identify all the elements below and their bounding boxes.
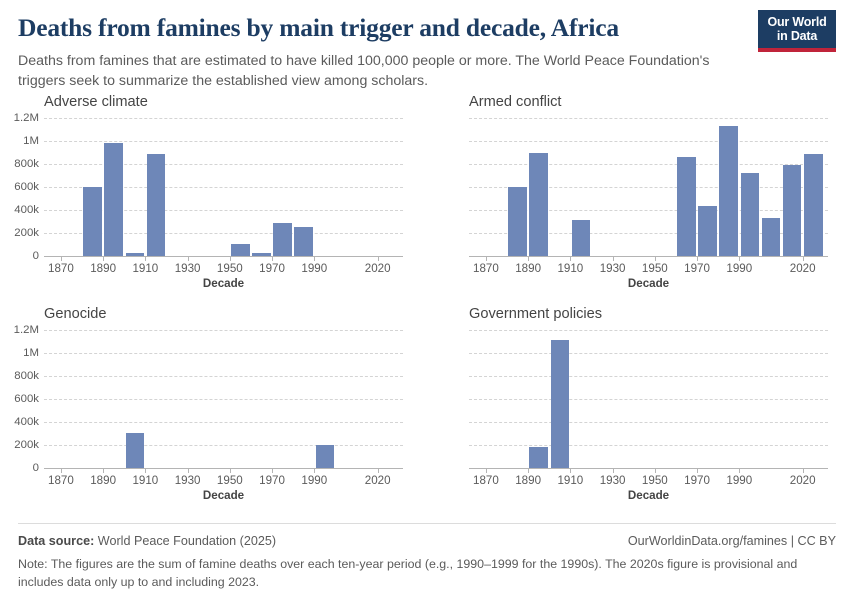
x-axis-tick [803,468,804,473]
x-axis-tick-label: 2020 [790,262,816,275]
bar[interactable] [83,187,102,256]
x-axis-tick [486,256,487,261]
owid-logo[interactable]: Our World in Data [758,10,836,52]
y-axis-tick-label: 1.2M [14,112,39,124]
bar[interactable] [551,340,570,468]
x-axis-tick [570,256,571,261]
x-axis-tick-label: 1910 [132,262,158,275]
x-axis-tick [528,256,529,261]
x-axis-tick-label: 1910 [132,474,158,487]
x-axis: 18701890191019301950197019902020Decade [44,468,403,502]
plot-area [469,118,828,256]
x-axis-tick-label: 1870 [48,474,74,487]
x-axis-tick [739,468,740,473]
x-axis-tick [145,256,146,261]
x-axis-title: Decade [203,489,244,502]
x-axis-tick [697,256,698,261]
x-axis-tick [230,468,231,473]
plot-canvas [469,330,828,468]
x-axis-tick [188,468,189,473]
footer-divider [18,523,836,524]
y-axis-tick-label: 600k [14,393,39,405]
y-axis-tick-label: 400k [14,204,39,216]
logo-line-1: Our World [767,15,826,29]
bar-series [469,118,828,256]
x-axis-title: Decade [628,489,669,502]
bar[interactable] [529,447,548,468]
x-axis-tick [378,256,379,261]
x-axis-tick [314,468,315,473]
plot-area [469,330,828,468]
bar[interactable] [804,154,823,255]
y-axis-tick-label: 0 [33,250,39,262]
y-axis-tick-label: 400k [14,416,39,428]
x-axis-tick [314,256,315,261]
x-axis-tick [103,256,104,261]
plot-canvas: 0200k400k600k800k1M1.2M [44,330,403,468]
y-axis-tick-label: 1M [23,347,39,359]
y-axis-tick-label: 600k [14,181,39,193]
x-axis-tick [528,468,529,473]
x-axis-tick-label: 1970 [259,262,285,275]
x-axis-tick-label: 1950 [217,474,243,487]
x-axis-tick [188,256,189,261]
x-axis-tick [655,468,656,473]
x-axis-tick-label: 1870 [473,262,499,275]
x-axis: 18701890191019301950197019902020Decade [469,468,828,502]
bar[interactable] [719,126,738,255]
bar[interactable] [741,173,760,255]
x-axis-tick-label: 1930 [175,262,201,275]
chart-panel: Adverse climate0200k400k600k800k1M1.2M18… [0,94,425,306]
x-axis-tick-label: 1950 [217,262,243,275]
bar[interactable] [126,433,145,468]
x-axis-tick [61,468,62,473]
bar[interactable] [273,223,292,256]
bar[interactable] [698,206,717,255]
x-axis-tick-label: 1990 [726,474,752,487]
y-axis-tick-label: 1M [23,135,39,147]
chart-panel: Armed conflict18701890191019301950197019… [425,94,850,306]
y-axis-tick-label: 0 [33,462,39,474]
chart-subtitle: Deaths from famines that are estimated t… [18,51,753,91]
page-title: Deaths from famines by main trigger and … [18,14,832,43]
plot-canvas [469,118,828,256]
panel-title: Government policies [469,306,834,324]
panel-title: Genocide [44,306,409,324]
bar[interactable] [783,165,802,256]
x-axis-tick-label: 1890 [90,474,116,487]
logo-line-2: in Data [777,29,817,43]
chart-footer: Data source: World Peace Foundation (202… [18,523,836,592]
bar[interactable] [677,157,696,256]
bar[interactable] [572,220,591,256]
x-axis-tick-label: 1970 [259,474,285,487]
chart-panel: Genocide0200k400k600k800k1M1.2M187018901… [0,306,425,518]
y-axis-tick-label: 1.2M [14,324,39,336]
x-axis-tick [570,468,571,473]
panel-title: Armed conflict [469,94,834,112]
x-axis-tick [230,256,231,261]
x-axis-tick-label: 1870 [473,474,499,487]
x-axis-title: Decade [203,277,244,290]
bar[interactable] [147,154,166,255]
chart-panel-grid: Adverse climate0200k400k600k800k1M1.2M18… [0,94,850,519]
x-axis-tick-label: 2020 [365,262,391,275]
x-axis-tick-label: 1970 [684,262,710,275]
x-axis-tick-label: 1970 [684,474,710,487]
bar[interactable] [762,218,781,256]
y-axis-tick-label: 200k [14,439,39,451]
logo-accent-bar [758,48,836,52]
chart-panel: Government policies187018901910193019501… [425,306,850,518]
note-value: The figures are the sum of famine deaths… [18,557,797,589]
x-axis-tick [803,256,804,261]
x-axis-tick-label: 1910 [557,474,583,487]
data-source-label: Data source: [18,534,94,548]
x-axis-tick-label: 1930 [600,262,626,275]
x-axis-tick-label: 1890 [515,262,541,275]
x-axis-tick-label: 1890 [515,474,541,487]
x-axis: 18701890191019301950197019902020Decade [44,256,403,290]
y-axis-tick-label: 200k [14,227,39,239]
footer-source-row: Data source: World Peace Foundation (202… [18,532,836,550]
plot-area: 0200k400k600k800k1M1.2M [44,330,403,468]
x-axis-tick-label: 2020 [365,474,391,487]
x-axis-tick-label: 1990 [301,262,327,275]
plot-canvas: 0200k400k600k800k1M1.2M [44,118,403,256]
x-axis-tick [272,256,273,261]
bar[interactable] [294,227,313,255]
y-axis-tick-label: 800k [14,370,39,382]
note-label: Note: [18,557,48,571]
chart-page: Deaths from famines by main trigger and … [0,0,850,600]
x-axis-tick-label: 1990 [726,262,752,275]
x-axis: 18701890191019301950197019902020Decade [469,256,828,290]
x-axis-tick-label: 1890 [90,262,116,275]
x-axis-tick [697,468,698,473]
y-axis-tick-label: 800k [14,158,39,170]
x-axis-tick-label: 1950 [642,262,668,275]
plot-area: 0200k400k600k800k1M1.2M [44,118,403,256]
x-axis-tick [739,256,740,261]
x-axis-tick-label: 1930 [600,474,626,487]
x-axis-tick [145,468,146,473]
bar[interactable] [104,143,123,255]
chart-note: Note: The figures are the sum of famine … [18,556,818,592]
x-axis-tick-label: 1870 [48,262,74,275]
x-axis-tick-label: 1950 [642,474,668,487]
bar-series [469,330,828,468]
data-source-value: World Peace Foundation (2025) [98,534,276,548]
chart-header: Deaths from famines by main trigger and … [0,0,850,91]
bar[interactable] [231,244,250,256]
bar[interactable] [316,445,335,468]
bar[interactable] [529,153,548,256]
x-axis-tick-label: 1990 [301,474,327,487]
x-axis-tick [61,256,62,261]
bar-series [44,118,403,256]
x-axis-tick-label: 2020 [790,474,816,487]
x-axis-tick [613,468,614,473]
x-axis-tick-label: 1910 [557,262,583,275]
bar[interactable] [508,187,527,256]
data-source: Data source: World Peace Foundation (202… [18,532,276,550]
owid-link[interactable]: OurWorldinData.org/famines | CC BY [628,532,836,550]
panel-title: Adverse climate [44,94,409,112]
x-axis-tick [613,256,614,261]
x-axis-title: Decade [628,277,669,290]
bar-series [44,330,403,468]
x-axis-tick [103,468,104,473]
x-axis-tick-label: 1930 [175,474,201,487]
x-axis-tick [486,468,487,473]
x-axis-tick [378,468,379,473]
x-axis-tick [272,468,273,473]
x-axis-tick [655,256,656,261]
